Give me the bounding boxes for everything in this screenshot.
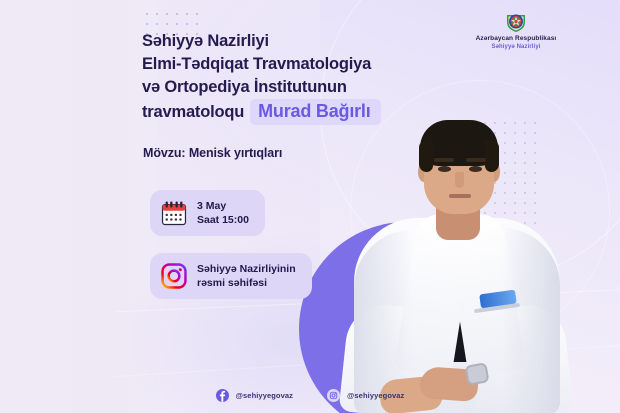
eye-right <box>469 166 482 172</box>
date-card: 3 May Saat 15:00 <box>150 190 265 236</box>
instagram-icon <box>327 389 340 402</box>
doctor-portrait <box>362 110 552 413</box>
headline-line-3: və Ortopediya İnstitutunun <box>142 76 432 99</box>
footer-facebook[interactable]: @sehiyyegovaz <box>216 389 293 402</box>
date-value: 3 May <box>197 199 249 213</box>
eyebrow-left <box>434 158 454 162</box>
nose-shape <box>455 172 464 188</box>
speaker-name-highlight: Murad Bağırlı <box>250 99 380 125</box>
hair-side-left <box>419 140 433 172</box>
facebook-handle: @sehiyyegovaz <box>236 391 293 400</box>
instagram-card[interactable]: Səhiyyə Nazirliyinin rəsmi səhifəsi <box>150 253 312 299</box>
instagram-handle: @sehiyyegovaz <box>347 391 404 400</box>
headline: Səhiyyə Nazirliyi Elmi-Tədqiqat Travmato… <box>142 30 432 99</box>
speaker-role: travmatoloqu <box>142 103 244 122</box>
logo-line-2: Səhiyyə Nazirliyi <box>460 43 572 51</box>
facebook-icon <box>216 389 229 402</box>
headline-line-1: Səhiyyə Nazirliyi <box>142 30 432 53</box>
instagram-line-2: rəsmi səhifəsi <box>197 276 296 290</box>
mouth-shape <box>449 194 471 198</box>
poster-canvas: Azərbaycan Respublikası Səhiyyə Nazirliy… <box>0 0 620 413</box>
instagram-line-1: Səhiyyə Nazirliyinin <box>197 262 296 276</box>
calendar-icon <box>161 200 187 226</box>
hair-side-right <box>485 140 499 172</box>
azerbaijan-coat-of-arms-icon <box>503 8 529 34</box>
headline-line-2: Elmi-Tədqiqat Travmatologiya <box>142 53 432 76</box>
speaker-name: Murad Bağırlı <box>258 101 370 121</box>
speaker-row: travmatoloqu Murad Bağırlı <box>142 99 381 125</box>
ministry-logo: Azərbaycan Respublikası Səhiyyə Nazirliy… <box>460 8 572 52</box>
wristwatch <box>464 362 489 386</box>
eye-left <box>438 166 451 172</box>
instagram-icon <box>161 263 187 289</box>
logo-line-1: Azərbaycan Respublikası <box>460 35 572 43</box>
social-footer: @sehiyyegovaz @sehiyyegovaz <box>0 389 620 402</box>
topic-line: Mövzu: Menisk yırtıqları <box>143 146 282 160</box>
coat-shade-right <box>502 228 560 413</box>
footer-instagram[interactable]: @sehiyyegovaz <box>327 389 404 402</box>
eyebrow-right <box>466 158 486 162</box>
time-value: Saat 15:00 <box>197 213 249 227</box>
date-card-text: 3 May Saat 15:00 <box>197 199 249 227</box>
instagram-card-text: Səhiyyə Nazirliyinin rəsmi səhifəsi <box>197 262 296 290</box>
